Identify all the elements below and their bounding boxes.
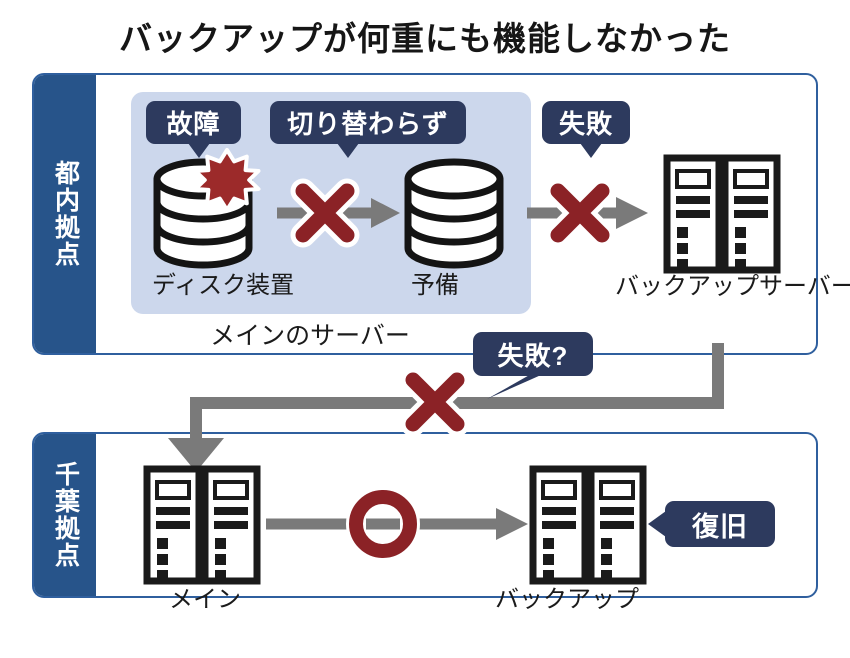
disk-device-label: ディスク装置 [128,272,318,300]
page-title: バックアップが何重にも機能しなかった [0,12,850,60]
no-switchover-badge-label: 切り替わらず [287,104,448,141]
failure-badge: 故障 [146,101,241,144]
chiba-site-tab: 千葉拠点 [34,434,96,596]
badge-tail-down-icon [188,143,210,158]
backup-server-label: バックアップサーバー [615,272,825,301]
infographic-canvas: バックアップが何重にも機能しなかった 都内拠点 故障 切り替わらず 失敗 ディス… [0,0,850,658]
backup-failed-badge: 失敗 [542,101,630,144]
cross-site-failed-badge-label: 失敗? [498,336,569,373]
chiba-backup-server-label: バックアップ [462,586,672,614]
cross-site-failed-badge: 失敗? [473,332,593,376]
spare-disk-label: 予備 [380,272,490,300]
badge-tail-left-icon [648,511,666,537]
no-switchover-badge: 切り替わらず [270,101,466,144]
failure-badge-label: 故障 [166,104,220,141]
backup-failed-badge-label: 失敗 [559,104,613,141]
tokyo-site-tab: 都内拠点 [34,75,96,353]
main-server-group-label: メインのサーバー [175,322,445,352]
badge-tail-swept-icon [487,373,543,399]
x-mark-icon [413,380,457,424]
chiba-main-server-label: メイン [120,586,290,614]
badge-tail-down-icon [580,143,602,158]
recovery-badge-label: 復旧 [692,505,748,544]
recovery-badge: 復旧 [665,501,775,547]
badge-tail-down-icon [337,143,359,158]
